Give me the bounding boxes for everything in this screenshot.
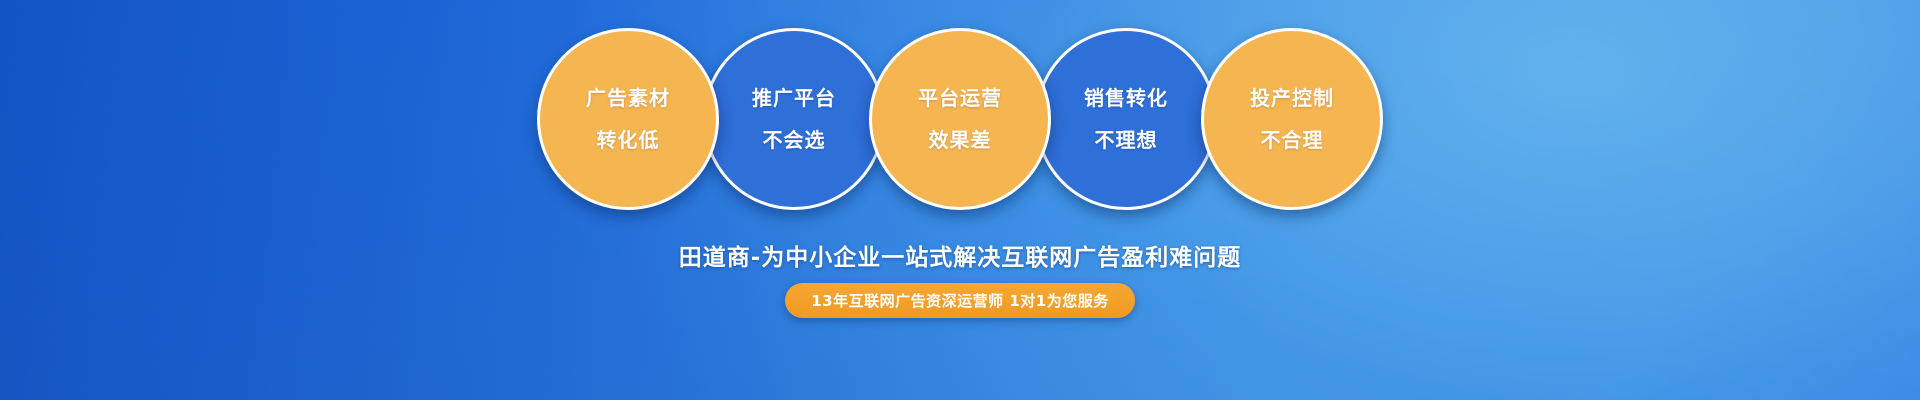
pain-point-circle-2-line2: 不会选 xyxy=(763,130,826,150)
promo-banner: 广告素材 转化低 推广平台 不会选 平台运营 效果差 销售转化 不理想 投产控制… xyxy=(0,0,1920,400)
banner-headline: 田道商-为中小企业一站式解决互联网广告盈利难问题 xyxy=(0,238,1920,272)
pain-point-circle-3-line1: 平台运营 xyxy=(918,88,1002,108)
pain-point-circle-1-line2: 转化低 xyxy=(597,130,660,150)
pain-point-circle-5-line2: 不合理 xyxy=(1261,130,1324,150)
service-badge[interactable]: 13年互联网广告资深运营师 1对1为您服务 xyxy=(785,283,1134,318)
pain-point-circle-4-line1: 销售转化 xyxy=(1084,88,1168,108)
pain-point-circle-4[interactable]: 销售转化 不理想 xyxy=(1035,28,1217,210)
pain-point-circle-3[interactable]: 平台运营 效果差 xyxy=(869,28,1051,210)
pain-point-circle-1[interactable]: 广告素材 转化低 xyxy=(537,28,719,210)
pain-point-circle-2[interactable]: 推广平台 不会选 xyxy=(703,28,885,210)
pain-point-circle-5[interactable]: 投产控制 不合理 xyxy=(1201,28,1383,210)
pain-point-circle-2-line1: 推广平台 xyxy=(752,88,836,108)
pain-point-circle-3-line2: 效果差 xyxy=(929,130,992,150)
pain-point-circle-row: 广告素材 转化低 推广平台 不会选 平台运营 效果差 销售转化 不理想 投产控制… xyxy=(0,28,1920,228)
pain-point-circle-4-line2: 不理想 xyxy=(1095,130,1158,150)
badge-container: 13年互联网广告资深运营师 1对1为您服务 xyxy=(0,283,1920,318)
pain-point-circle-1-line1: 广告素材 xyxy=(586,88,670,108)
pain-point-circle-5-line1: 投产控制 xyxy=(1250,88,1334,108)
